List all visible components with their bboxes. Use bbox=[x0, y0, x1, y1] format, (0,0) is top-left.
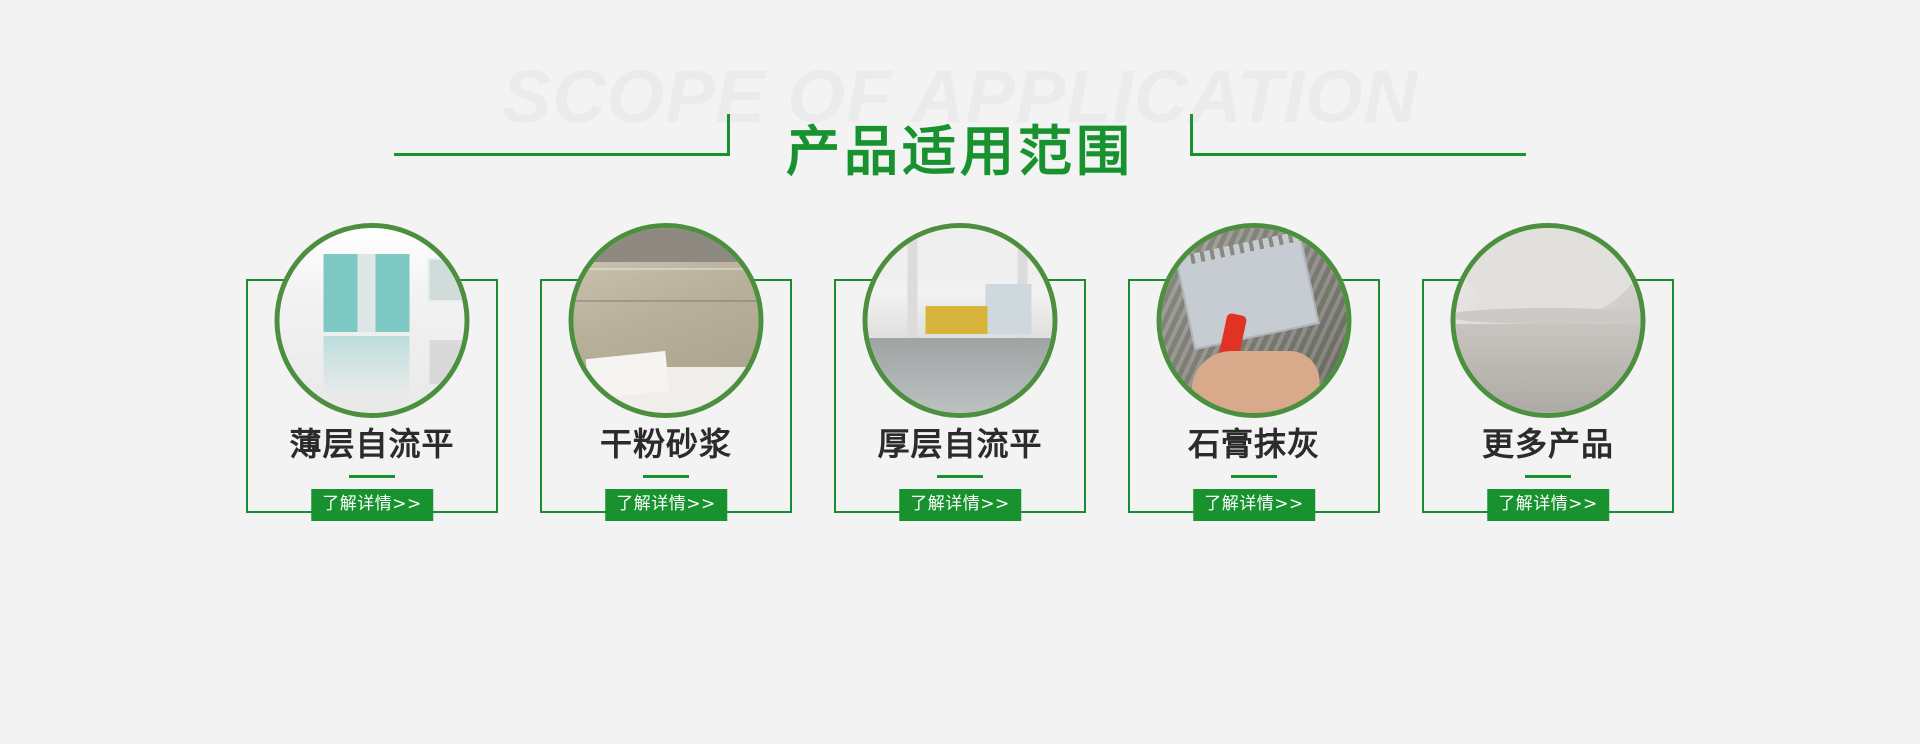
product-card-thin-layer-self-leveling[interactable]: 薄层自流平 了解详情>> bbox=[246, 223, 498, 513]
thick-layer-self-leveling-floor-photo[interactable] bbox=[863, 223, 1058, 418]
title-rule-right bbox=[1190, 153, 1526, 156]
detail-button[interactable]: 了解详情>> bbox=[1193, 489, 1315, 521]
detail-button[interactable]: 了解详情>> bbox=[311, 489, 433, 521]
detail-button[interactable]: 了解详情>> bbox=[605, 489, 727, 521]
card-label: 厚层自流平 bbox=[834, 428, 1086, 460]
product-card-thick-layer-self-leveling[interactable]: 厚层自流平 了解详情>> bbox=[834, 223, 1086, 513]
card-label: 干粉砂浆 bbox=[540, 428, 792, 460]
photo-graphic bbox=[574, 228, 759, 413]
thin-layer-self-leveling-floor-photo[interactable] bbox=[275, 223, 470, 418]
detail-button[interactable]: 了解详情>> bbox=[899, 489, 1021, 521]
label-underline bbox=[1231, 475, 1277, 478]
dry-powder-mortar-photo[interactable] bbox=[569, 223, 764, 418]
title-row: 产品适用范围 bbox=[0, 118, 1920, 190]
photo-graphic bbox=[1162, 228, 1347, 413]
card-label: 石膏抹灰 bbox=[1128, 428, 1380, 460]
photo-graphic bbox=[280, 228, 465, 413]
more-products-photo[interactable] bbox=[1451, 223, 1646, 418]
product-card-more-products[interactable]: 更多产品 了解详情>> bbox=[1422, 223, 1674, 513]
photo-graphic bbox=[868, 228, 1053, 413]
section-header: SCOPE OF APPLICATION 产品适用范围 bbox=[0, 0, 1920, 215]
product-card-dry-powder-mortar[interactable]: 干粉砂浆 了解详情>> bbox=[540, 223, 792, 513]
label-underline bbox=[643, 475, 689, 478]
label-underline bbox=[349, 475, 395, 478]
label-underline bbox=[937, 475, 983, 478]
product-card-list: 薄层自流平 了解详情>> 干粉砂浆 了解详情>> 厚层自流平 了解详情>> bbox=[0, 215, 1920, 513]
page-title: 产品适用范围 bbox=[730, 125, 1190, 179]
label-underline bbox=[1525, 475, 1571, 478]
card-label: 更多产品 bbox=[1422, 428, 1674, 460]
detail-button[interactable]: 了解详情>> bbox=[1487, 489, 1609, 521]
title-rule-left bbox=[394, 153, 730, 156]
product-card-gypsum-plastering[interactable]: 石膏抹灰 了解详情>> bbox=[1128, 223, 1380, 513]
card-label: 薄层自流平 bbox=[246, 428, 498, 460]
gypsum-plastering-trowel-photo[interactable] bbox=[1157, 223, 1352, 418]
photo-graphic bbox=[1456, 228, 1641, 413]
